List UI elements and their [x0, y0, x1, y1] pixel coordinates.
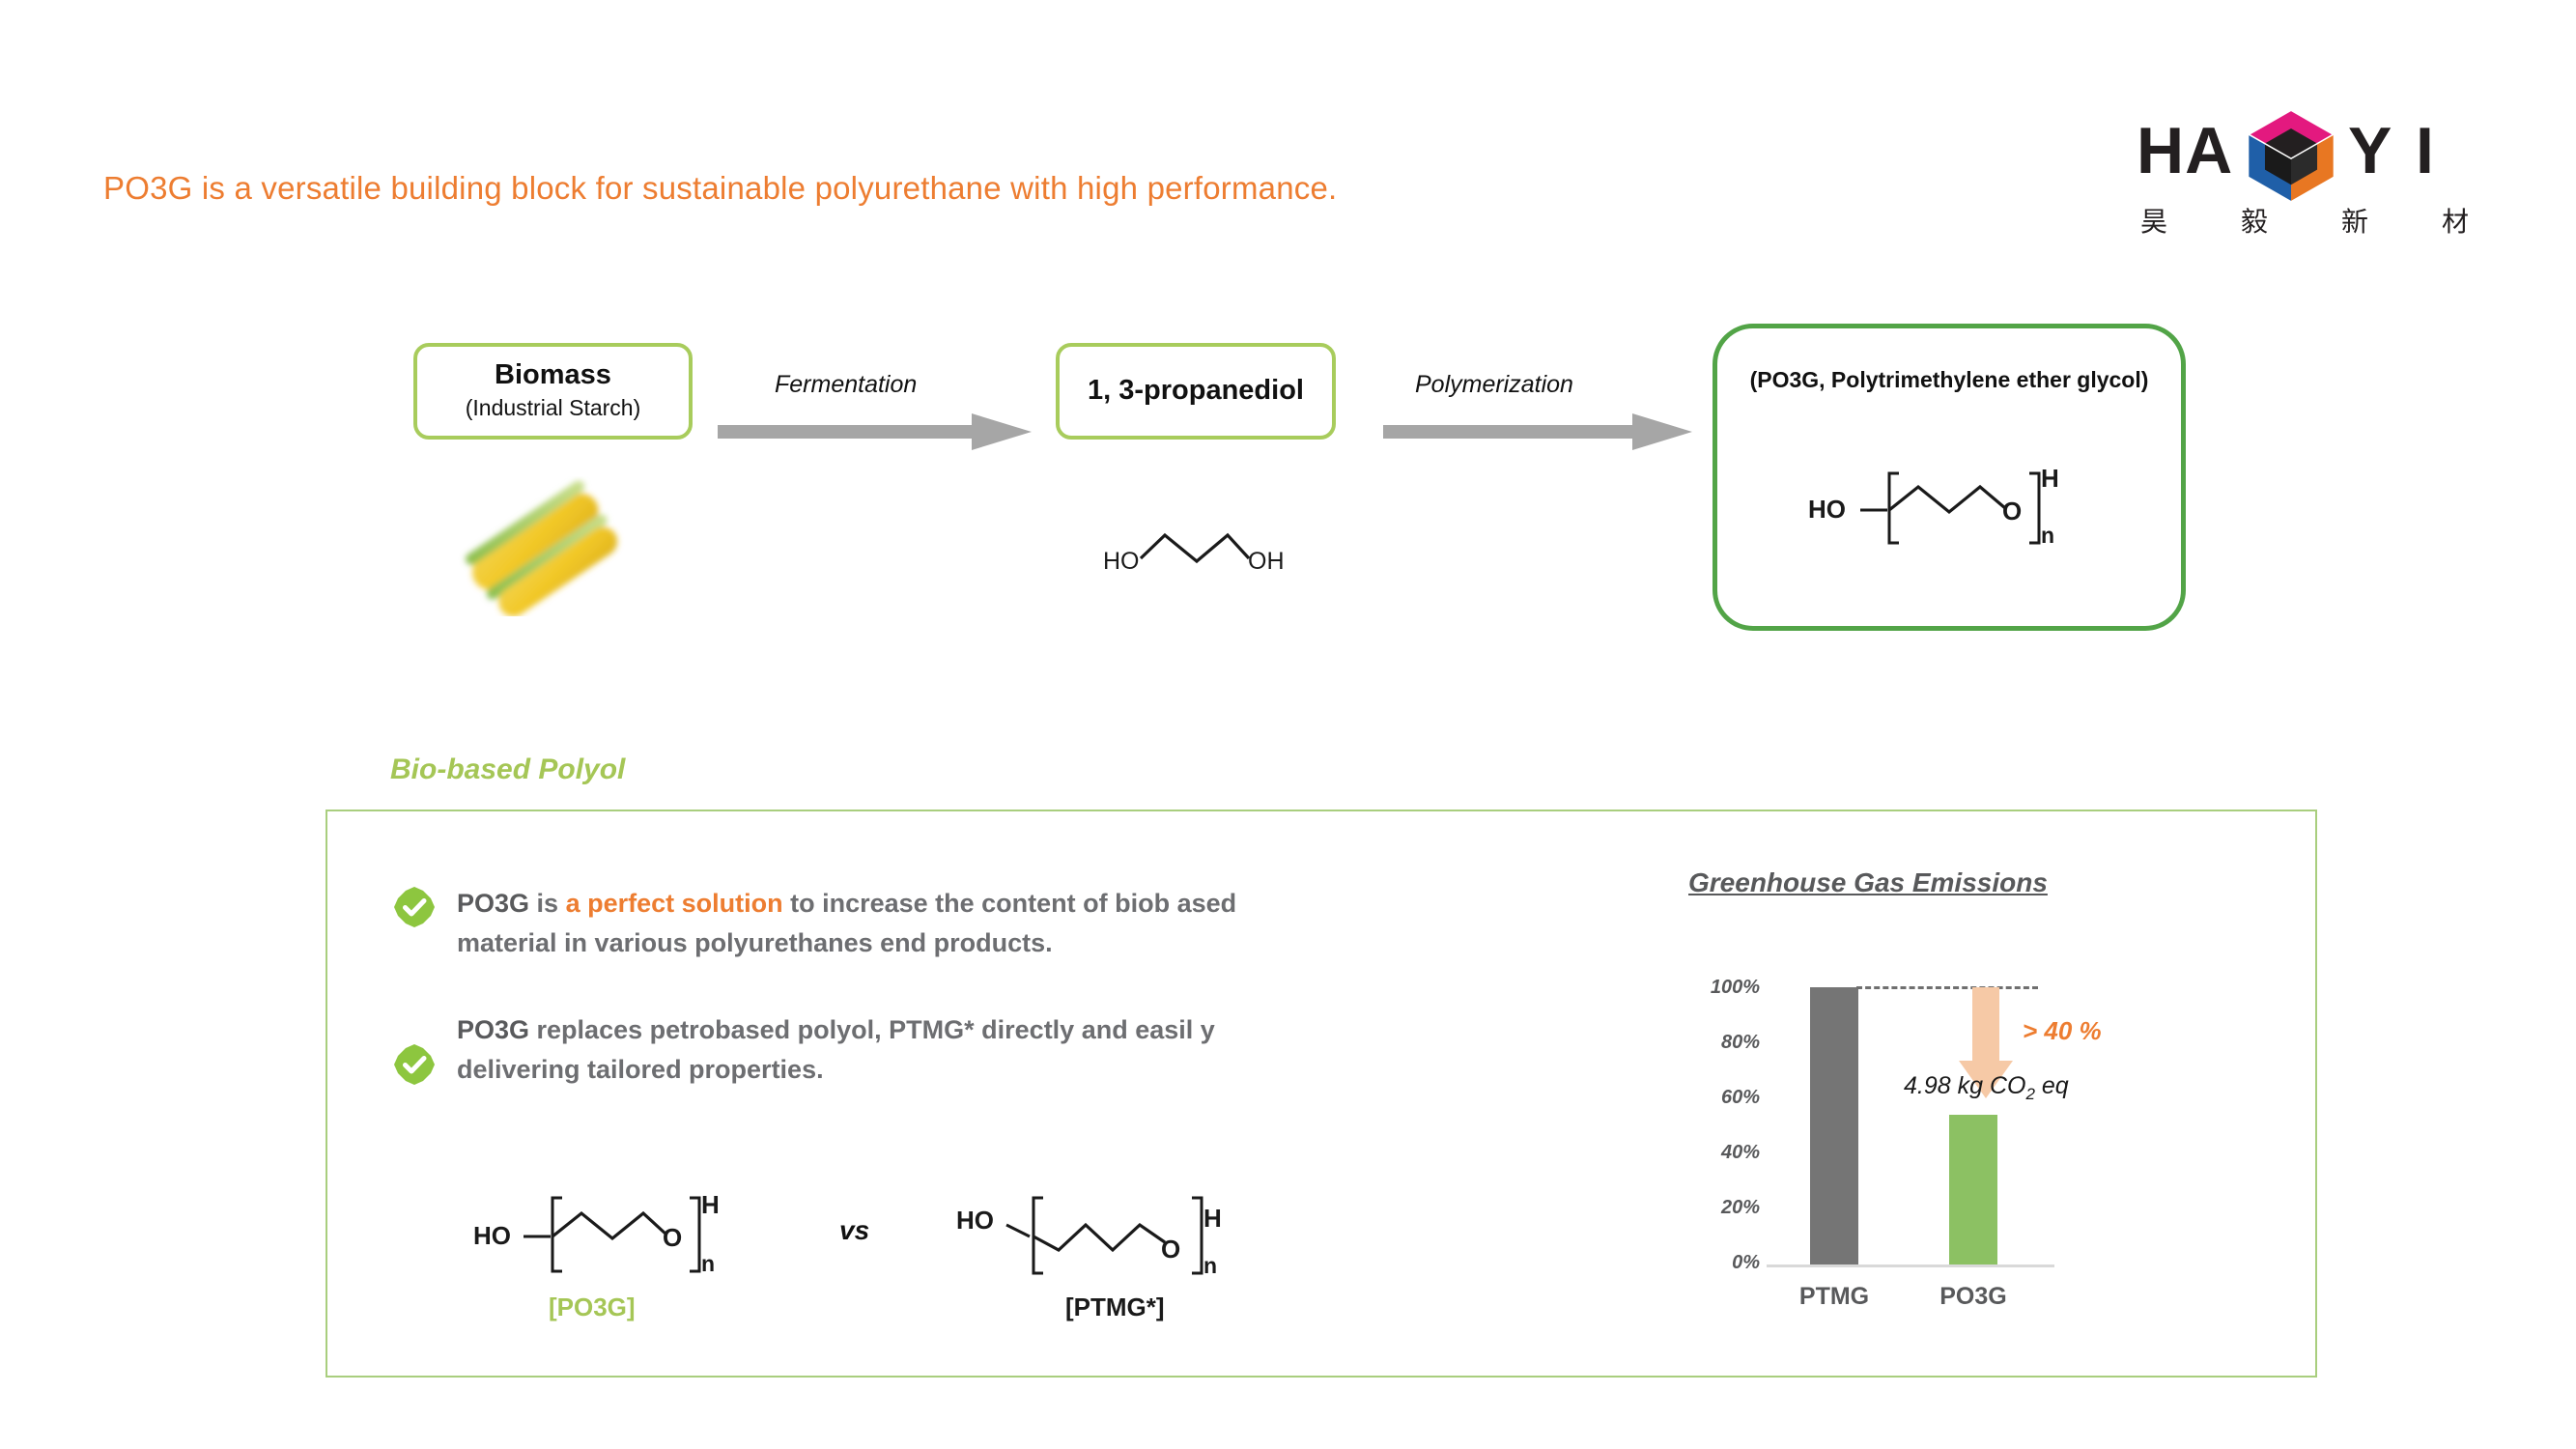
section-heading: Bio-based Polyol: [390, 753, 625, 786]
x-axis-tick-label-ptmg: PTMG: [1757, 1283, 1911, 1311]
svg-text:n: n: [2041, 523, 2054, 548]
svg-text:H: H: [1203, 1204, 1222, 1233]
list-item-text: PO3G replaces petrobased polyol, PTMG* d…: [457, 1010, 1291, 1090]
svg-text:HO: HO: [956, 1206, 994, 1235]
svg-text:H: H: [701, 1190, 720, 1219]
chart-title: Greenhouse Gas Emissions: [1688, 867, 2048, 898]
molecule-po3g-comparison: HO O n H: [473, 1180, 744, 1287]
molecule-propanediol-left-label: HO: [1103, 548, 1140, 575]
list-item: PO3G is a perfect solution to increase t…: [393, 884, 1291, 963]
reduction-callout: > 40 %: [2023, 1016, 2102, 1046]
molecule-label-po3g: [PO3G]: [549, 1293, 636, 1322]
page-title: PO3G is a versatile building block for s…: [103, 170, 1337, 207]
svg-text:H: H: [2041, 464, 2059, 493]
co2-value-sub: 2: [2025, 1085, 2034, 1103]
svg-text:HO: HO: [473, 1221, 511, 1250]
flow-box-biomass-subtitle: (Industrial Starch): [466, 395, 641, 422]
molecule-propanediol: HO OH: [1101, 522, 1294, 589]
list-item: PO3G replaces petrobased polyol, PTMG* d…: [393, 1010, 1291, 1090]
svg-text:HO: HO: [1808, 495, 1846, 524]
bullet-1-seg-1: PO3G: [457, 889, 529, 918]
flow-box-po3g-caption: (PO3G, Polytrimethylene ether glycol): [1750, 367, 2149, 393]
y-axis-tick-label: 40%: [1677, 1142, 1760, 1164]
molecule-po3g-diagram: HO O n H: [1806, 454, 2096, 560]
logo-text-i: I: [2416, 114, 2435, 187]
flow-arrow-fermentation: [718, 410, 1032, 454]
svg-text:O: O: [2002, 497, 2022, 526]
molecule-label-ptmg: [PTMG*]: [1065, 1293, 1165, 1322]
co2-value-label: 4.98 kg CO2 eq: [1904, 1072, 2069, 1104]
logo-cn-char-3: 新: [2341, 201, 2368, 240]
bar-ptmg: [1810, 987, 1858, 1264]
check-badge-icon: [393, 1043, 436, 1086]
bullet-1-seg-2: is: [529, 889, 566, 918]
logo-cn-char-1: 昊: [2140, 201, 2167, 240]
cube-icon: [2241, 104, 2341, 205]
flow-box-propanediol-title: 1, 3-propanediol: [1088, 376, 1304, 407]
logo-cn-char-2: 毅: [2241, 201, 2268, 240]
co2-value-prefix: 4.98 kg CO: [1904, 1072, 2025, 1099]
x-axis-line: [1767, 1264, 2054, 1267]
svg-text:O: O: [663, 1223, 682, 1252]
x-axis-tick-label-po3g: PO3G: [1896, 1283, 2051, 1311]
y-axis-tick-label: 100%: [1677, 977, 1760, 999]
logo-text-y: Y: [2348, 114, 2392, 187]
y-axis-tick-label: 0%: [1677, 1252, 1760, 1274]
molecule-ptmg-comparison: HO O n H: [956, 1180, 1246, 1287]
y-axis-tick-label: 60%: [1677, 1087, 1760, 1109]
co2-value-suffix: eq: [2035, 1072, 2069, 1099]
versus-label: vs: [839, 1215, 869, 1246]
svg-text:n: n: [1203, 1253, 1217, 1278]
logo-cn-char-4: 材: [2442, 201, 2469, 240]
flow-box-biomass: Biomass (Industrial Starch): [413, 343, 693, 440]
bullet-2-seg-1: PO3G: [457, 1015, 529, 1044]
y-axis-tick-label: 20%: [1677, 1197, 1760, 1219]
arrow-label-fermentation: Fermentation: [775, 371, 917, 399]
flow-box-propanediol: 1, 3-propanediol: [1056, 343, 1336, 440]
y-axis-tick-label: 80%: [1677, 1032, 1760, 1054]
company-logo: HA Y I 昊 毅 新 材: [2137, 100, 2470, 238]
bullet-1-seg-3: a perfect solution: [566, 889, 783, 918]
check-badge-icon: [393, 886, 436, 928]
svg-text:O: O: [1161, 1235, 1180, 1264]
svg-text:n: n: [701, 1251, 715, 1276]
arrow-label-polymerization: Polymerization: [1415, 371, 1573, 399]
bar-po3g: [1949, 1115, 1997, 1264]
bullet-2-seg-2: replaces petrobased polyol, PTMG* direct…: [457, 1015, 1215, 1084]
flow-box-biomass-title: Biomass: [495, 360, 611, 391]
list-item-text: PO3G is a perfect solution to increase t…: [457, 884, 1291, 963]
molecule-propanediol-right-label: OH: [1248, 548, 1285, 575]
flow-arrow-polymerization: [1383, 410, 1692, 454]
corn-image: [439, 476, 647, 616]
logo-chinese-name: 昊 毅 新 材: [2140, 201, 2469, 240]
logo-text-ha: HA: [2137, 114, 2233, 187]
